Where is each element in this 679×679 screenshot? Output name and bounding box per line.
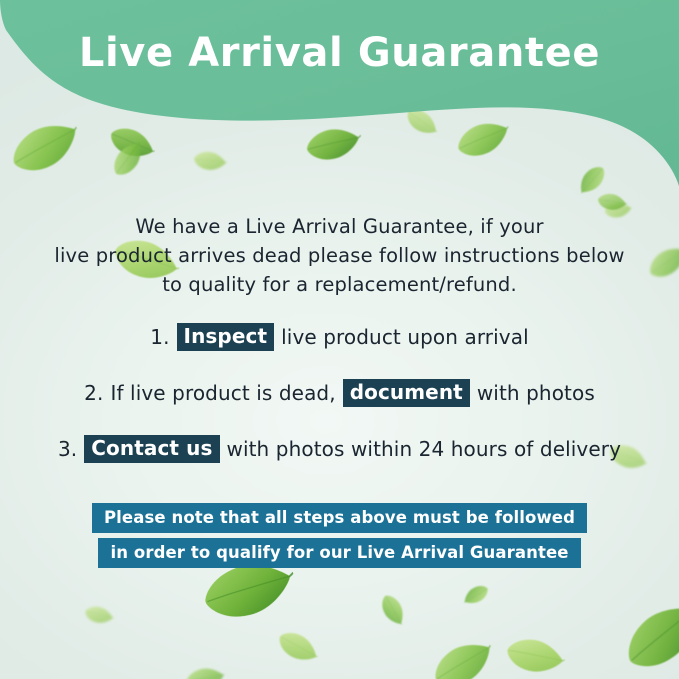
step-text-1: live product upon arrival	[281, 325, 529, 349]
step-item-1: 1. Inspect live product upon arrival	[0, 318, 679, 356]
step-text-2: with photos	[477, 381, 595, 405]
steps-list: 1. Inspect live product upon arrival 2. …	[0, 318, 679, 486]
step-pretext-2: If live product is dead,	[110, 381, 335, 405]
step-highlight-document: document	[343, 379, 470, 407]
intro-line-1: We have a Live Arrival Guarantee, if you…	[0, 212, 679, 241]
step-highlight-inspect: Inspect	[177, 323, 275, 351]
note-banner: Please note that all steps above must be…	[0, 503, 679, 568]
note-banner-line-1: Please note that all steps above must be…	[92, 503, 587, 533]
note-banner-line-2: in order to qualify for our Live Arrival…	[98, 538, 580, 568]
intro-paragraph: We have a Live Arrival Guarantee, if you…	[0, 212, 679, 299]
step-text-3: with photos within 24 hours of delivery	[227, 437, 622, 461]
live-arrival-guarantee-poster: Live Arrival Guarantee We have a Live Ar…	[0, 0, 679, 679]
content-area: We have a Live Arrival Guarantee, if you…	[0, 0, 679, 679]
step-number-2: 2.	[84, 381, 103, 405]
step-number-1: 1.	[150, 325, 169, 349]
intro-line-2: live product arrives dead please follow …	[0, 241, 679, 270]
step-item-2: 2. If live product is dead, document wit…	[0, 374, 679, 412]
step-highlight-contact-us: Contact us	[84, 435, 219, 463]
step-number-3: 3.	[58, 437, 77, 461]
step-item-3: 3. Contact us with photos within 24 hour…	[0, 430, 679, 468]
intro-line-3: to quality for a replacement/refund.	[0, 270, 679, 299]
